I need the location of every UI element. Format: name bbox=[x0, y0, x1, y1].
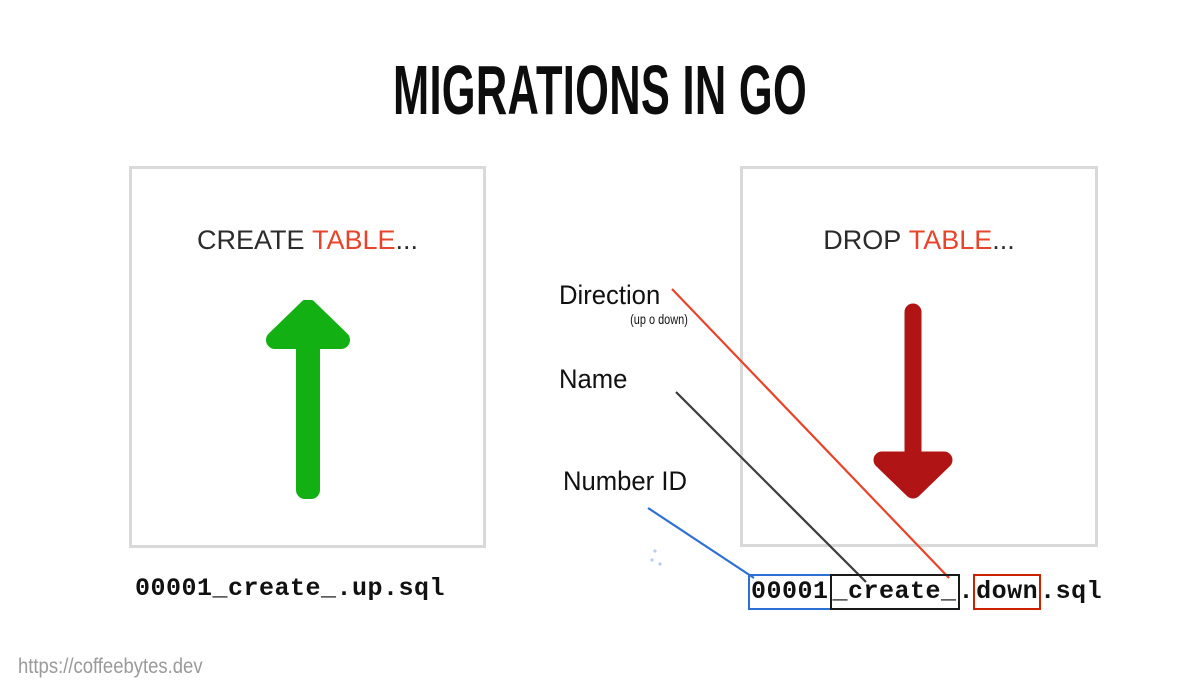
sql-ellipsis-up: ... bbox=[396, 225, 419, 255]
page-title: MIGRATIONS IN GO bbox=[228, 52, 972, 128]
slide-canvas: MIGRATIONS IN GO CREATE TABLE... DROP TA… bbox=[0, 0, 1200, 700]
leader-line-number-id bbox=[648, 508, 754, 578]
sql-statement-down: DROP TABLE... bbox=[743, 225, 1095, 256]
leader-dot-artifact bbox=[658, 562, 661, 565]
annotation-number-id: Number ID bbox=[563, 466, 694, 496]
filename-segment-name: _create_ bbox=[830, 574, 960, 610]
filename-up-migration: 00001_create_.up.sql bbox=[135, 574, 445, 603]
annotation-name: Name bbox=[559, 364, 631, 394]
annotation-direction-sublabel: (up o down) bbox=[581, 311, 737, 327]
sql-keyword-create: CREATE bbox=[197, 225, 305, 255]
panel-up-migration: CREATE TABLE... bbox=[129, 166, 486, 548]
filename-segment-name-up: _create_ bbox=[213, 574, 337, 603]
sql-keyword-drop: DROP bbox=[823, 225, 901, 255]
filename-segment-extension: .sql bbox=[1040, 577, 1102, 606]
annotation-number-id-label: Number ID bbox=[563, 466, 687, 496]
annotation-direction-label: Direction bbox=[559, 280, 749, 310]
filename-segment-dot: . bbox=[959, 577, 975, 606]
annotation-name-label: Name bbox=[559, 364, 627, 394]
panel-down-migration: DROP TABLE... bbox=[740, 166, 1098, 547]
sql-ellipsis-down: ... bbox=[992, 225, 1015, 255]
leader-dot-artifact bbox=[650, 558, 653, 561]
sql-statement-up: CREATE TABLE... bbox=[132, 225, 483, 256]
filename-segment-number-id: 00001 bbox=[748, 574, 832, 610]
filename-segment-suffix-up: .up.sql bbox=[337, 574, 446, 603]
filename-segment-direction: down bbox=[973, 574, 1041, 610]
sql-object-table-up: TABLE bbox=[312, 225, 396, 255]
filename-segment-number-up: 00001 bbox=[135, 574, 213, 603]
footer-url: https://coffeebytes.dev bbox=[18, 655, 203, 679]
annotation-direction: Direction (up o down) bbox=[559, 280, 759, 327]
filename-down-migration: 00001_create_.down.sql bbox=[749, 574, 1102, 610]
leader-dot-artifact bbox=[653, 549, 656, 552]
sql-object-table-down: TABLE bbox=[909, 225, 993, 255]
